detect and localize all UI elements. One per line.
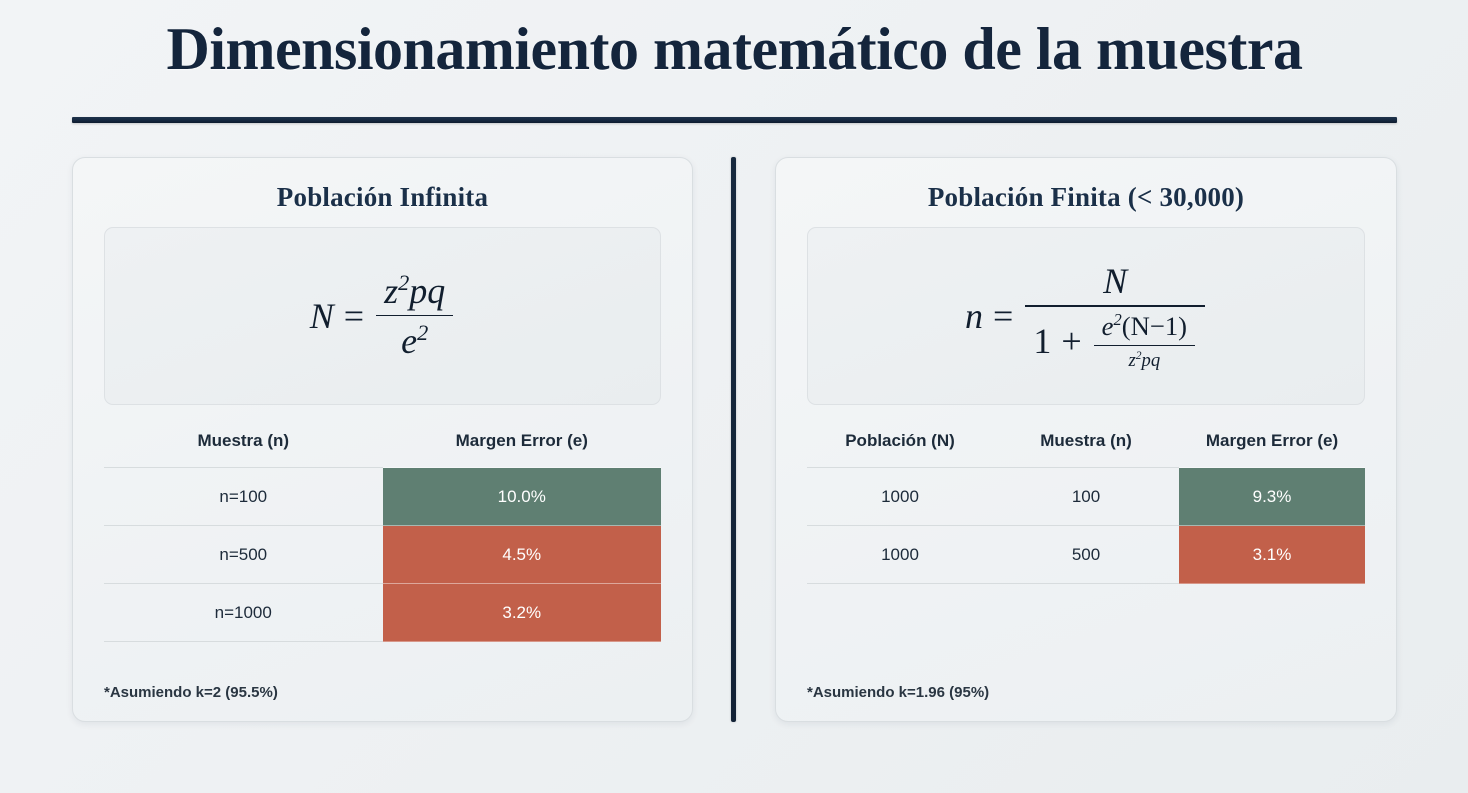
formula-outer-denominator: 1 + e2(N−1) z2pq xyxy=(1025,307,1205,373)
formula-inner-fraction: e2(N−1) z2pq xyxy=(1094,311,1195,373)
column-header-muestra: Muestra (n) xyxy=(993,431,1179,468)
inner-numerator-exponent: 2 xyxy=(1113,310,1121,329)
formula-outer-fraction: N 1 + e2(N−1) z2pq xyxy=(1025,260,1205,373)
cell-muestra: n=1000 xyxy=(104,584,383,642)
panel-right-title: Población Finita (< 30,000) xyxy=(776,182,1396,213)
column-header-poblacion: Población (N) xyxy=(807,431,993,468)
formula-finita: n = N 1 + e2(N−1) z2pq xyxy=(965,260,1207,373)
inner-numerator: e2(N−1) xyxy=(1094,311,1195,345)
page-title: Dimensionamiento matemático de la muestr… xyxy=(72,18,1397,81)
table-row: 1000 100 9.3% xyxy=(807,468,1365,526)
table-row: n=1000 3.2% xyxy=(104,584,661,642)
vertical-divider xyxy=(731,157,736,722)
numerator-base: z xyxy=(384,271,398,311)
formula-lhs: N xyxy=(310,295,334,337)
formula-fraction: z2pq e2 xyxy=(376,270,453,363)
formula-lhs: n xyxy=(965,295,983,337)
panel-poblacion-infinita: Población Infinita N = z2pq e2 Muestra (… xyxy=(72,157,693,722)
formula-numerator: z2pq xyxy=(376,270,453,315)
outer-numerator-value: N xyxy=(1103,261,1127,301)
column-header-margen-error: Margen Error (e) xyxy=(1179,431,1365,468)
cell-muestra: n=100 xyxy=(104,468,383,526)
table-finita: Población (N) Muestra (n) Margen Error (… xyxy=(807,431,1365,584)
panel-poblacion-finita: Población Finita (< 30,000) n = N 1 + e2… xyxy=(775,157,1397,722)
cell-margen-error: 9.3% xyxy=(1179,468,1365,526)
cell-muestra: 100 xyxy=(993,468,1179,526)
cell-margen-error: 10.0% xyxy=(383,468,662,526)
denominator-exponent: 2 xyxy=(417,320,428,345)
cell-margen-error: 3.1% xyxy=(1179,526,1365,584)
page-header: Dimensionamiento matemático de la muestr… xyxy=(72,18,1397,81)
inner-denominator-base: z xyxy=(1128,350,1135,371)
cell-poblacion: 1000 xyxy=(807,526,993,584)
table-infinita: Muestra (n) Margen Error (e) n=100 10.0%… xyxy=(104,431,661,642)
formula-equals: = xyxy=(344,295,364,337)
column-header-muestra: Muestra (n) xyxy=(104,431,383,468)
table-row: n=100 10.0% xyxy=(104,468,661,526)
numerator-rest: pq xyxy=(409,271,445,311)
table-header-row: Población (N) Muestra (n) Margen Error (… xyxy=(807,431,1365,468)
inner-numerator-base: e xyxy=(1102,311,1114,341)
cell-muestra: 500 xyxy=(993,526,1179,584)
inner-denominator-rest: pq xyxy=(1142,350,1161,371)
denominator-plus: + xyxy=(1061,320,1081,362)
formula-box-finita: n = N 1 + e2(N−1) z2pq xyxy=(807,227,1365,405)
formula-equals: = xyxy=(993,295,1013,337)
table-row: n=500 4.5% xyxy=(104,526,661,584)
table-row: 1000 500 3.1% xyxy=(807,526,1365,584)
denominator-base: e xyxy=(401,321,417,361)
cell-poblacion: 1000 xyxy=(807,468,993,526)
inner-denominator: z2pq xyxy=(1120,346,1168,372)
denominator-one: 1 xyxy=(1033,320,1051,362)
footnote-right: *Asumiendo k=1.96 (95%) xyxy=(807,684,989,701)
formula-infinita: N = z2pq e2 xyxy=(310,270,456,363)
table-header-row: Muestra (n) Margen Error (e) xyxy=(104,431,661,468)
formula-box-infinita: N = z2pq e2 xyxy=(104,227,661,405)
numerator-exponent: 2 xyxy=(398,270,409,295)
formula-denominator: e2 xyxy=(393,316,436,362)
formula-outer-numerator: N xyxy=(1095,260,1135,305)
column-header-margen-error: Margen Error (e) xyxy=(383,431,662,468)
inner-numerator-rest: (N−1) xyxy=(1122,311,1187,341)
title-underline-rule xyxy=(72,117,1397,123)
footnote-left: *Asumiendo k=2 (95.5%) xyxy=(104,684,278,701)
cell-muestra: n=500 xyxy=(104,526,383,584)
cell-margen-error: 3.2% xyxy=(383,584,662,642)
cell-margen-error: 4.5% xyxy=(383,526,662,584)
panel-left-title: Población Infinita xyxy=(73,182,692,213)
